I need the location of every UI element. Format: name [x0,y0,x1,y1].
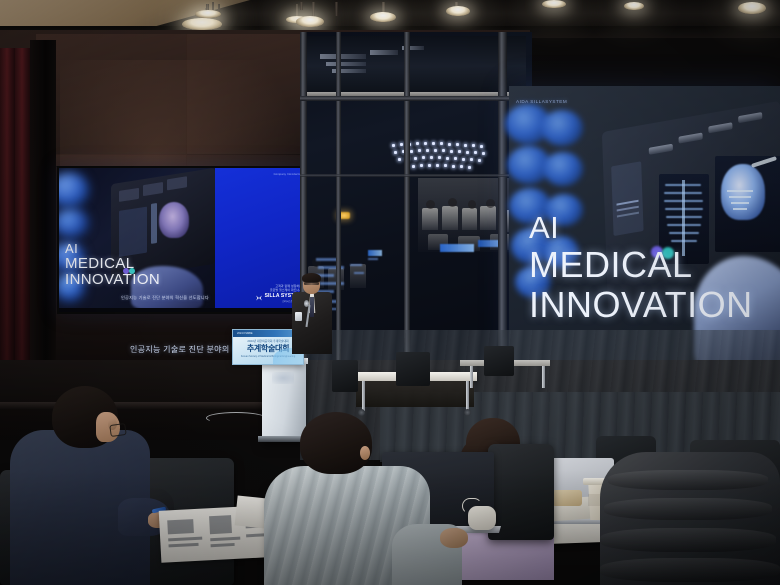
conference-photo: AI MEDICAL INNOVATION 인공지능 기술로 진단 분야의 혁신… [0,0,780,585]
photo-vignette [0,0,780,585]
